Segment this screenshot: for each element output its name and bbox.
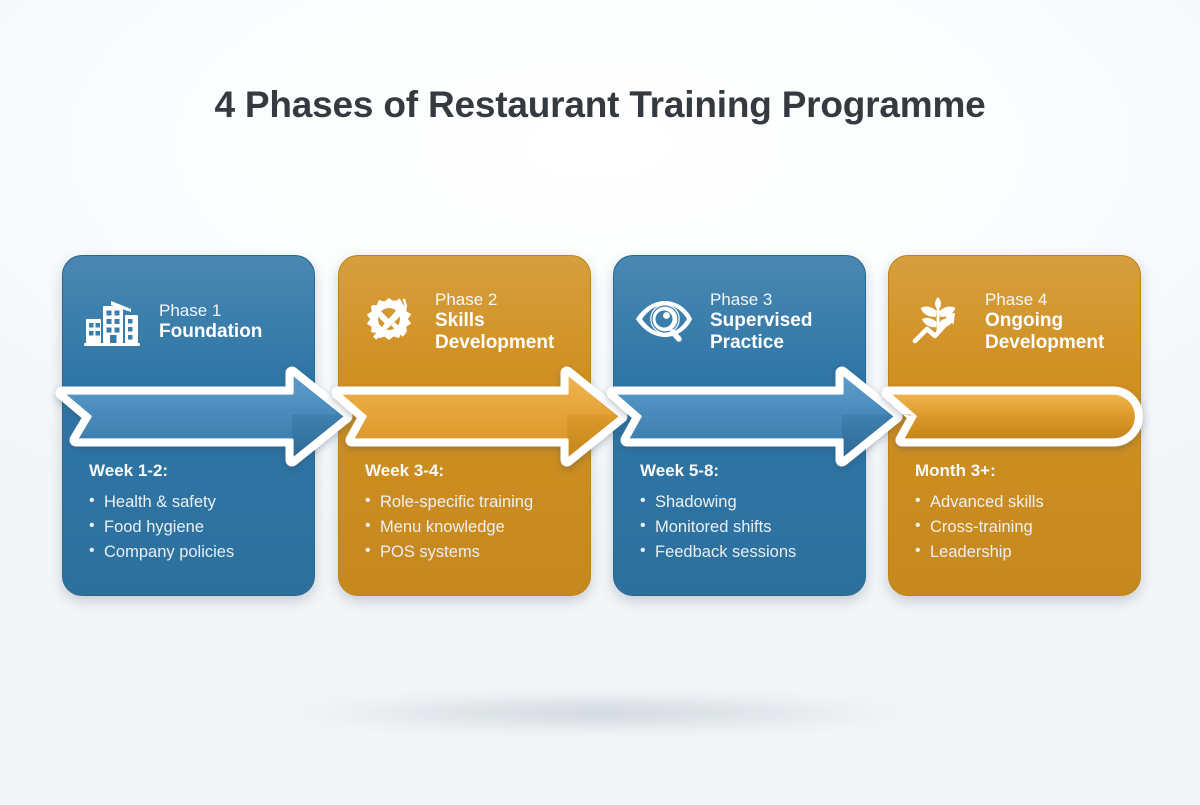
phase-body-4: Month 3+: Advanced skills Cross-training… — [889, 461, 1140, 595]
phase-body-1: Week 1-2: Health & safety Food hygiene C… — [63, 461, 314, 595]
phase-name-3: Supervised Practice — [710, 310, 849, 354]
phase-header-text-1: Phase 1 Foundation — [159, 299, 262, 344]
list-item: Role-specific training — [365, 490, 574, 515]
phase-bullets-2: Role-specific training Menu knowledge PO… — [365, 490, 574, 565]
list-item: Cross-training — [915, 515, 1124, 540]
phase-timeframe-4: Month 3+: — [915, 461, 1124, 481]
knife-spatula-gear-icon — [357, 289, 421, 353]
plant-growth-arrow-icon — [907, 289, 971, 353]
phase-label-1: Phase 1 — [159, 301, 262, 321]
list-item: Food hygiene — [89, 515, 298, 540]
phase-header-2: Phase 2 Skills Development — [339, 256, 590, 386]
list-item: Monitored shifts — [640, 515, 849, 540]
list-item: Leadership — [915, 540, 1124, 565]
phase-bullets-3: Shadowing Monitored shifts Feedback sess… — [640, 490, 849, 565]
phase-bullets-1: Health & safety Food hygiene Company pol… — [89, 490, 298, 565]
eye-magnifier-icon — [632, 289, 696, 353]
list-item: Advanced skills — [915, 490, 1124, 515]
phase-card-1[interactable]: Phase 1 Foundation Week 1-2: Health & sa… — [62, 255, 315, 596]
phase-label-4: Phase 4 — [985, 290, 1124, 310]
phase-header-text-4: Phase 4 Ongoing Development — [985, 288, 1124, 355]
phase-bullets-4: Advanced skills Cross-training Leadershi… — [915, 490, 1124, 565]
infographic-canvas: 4 Phases of Restaurant Training Programm… — [0, 0, 1200, 805]
list-item: POS systems — [365, 540, 574, 565]
phase-header-4: Phase 4 Ongoing Development — [889, 256, 1140, 386]
building-icon — [81, 289, 145, 353]
list-item: Company policies — [89, 540, 298, 565]
list-item: Menu knowledge — [365, 515, 574, 540]
list-item: Feedback sessions — [640, 540, 849, 565]
phase-timeframe-3: Week 5-8: — [640, 461, 849, 481]
phase-timeframe-1: Week 1-2: — [89, 461, 298, 481]
phase-header-1: Phase 1 Foundation — [63, 256, 314, 386]
list-item: Health & safety — [89, 490, 298, 515]
phase-label-2: Phase 2 — [435, 290, 574, 310]
phase-card-3[interactable]: Phase 3 Supervised Practice Week 5-8: Sh… — [613, 255, 866, 596]
phase-card-2[interactable]: Phase 2 Skills Development Week 3-4: Rol… — [338, 255, 591, 596]
base-shadow — [150, 690, 1050, 736]
phase-timeframe-2: Week 3-4: — [365, 461, 574, 481]
phase-name-1: Foundation — [159, 321, 262, 343]
phase-name-2: Skills Development — [435, 310, 574, 354]
phase-header-3: Phase 3 Supervised Practice — [614, 256, 865, 386]
page-title: 4 Phases of Restaurant Training Programm… — [0, 84, 1200, 126]
phase-card-4[interactable]: Phase 4 Ongoing Development Month 3+: Ad… — [888, 255, 1141, 596]
list-item: Shadowing — [640, 490, 849, 515]
phase-body-3: Week 5-8: Shadowing Monitored shifts Fee… — [614, 461, 865, 595]
phase-body-2: Week 3-4: Role-specific training Menu kn… — [339, 461, 590, 595]
phase-header-text-3: Phase 3 Supervised Practice — [710, 288, 849, 355]
phase-label-3: Phase 3 — [710, 290, 849, 310]
phase-name-4: Ongoing Development — [985, 310, 1124, 354]
phase-header-text-2: Phase 2 Skills Development — [435, 288, 574, 355]
